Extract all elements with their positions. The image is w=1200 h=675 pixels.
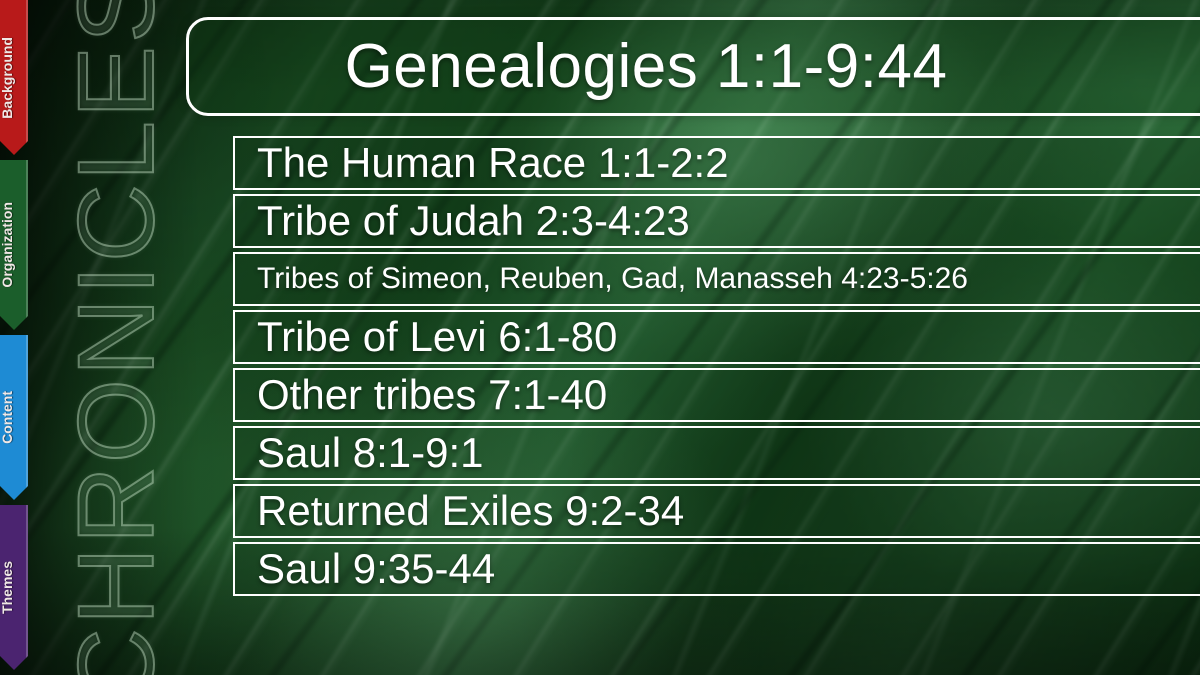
sidebar-tab-label: Organization bbox=[0, 202, 15, 288]
outline-row[interactable]: The Human Race 1:1-2:2 bbox=[233, 136, 1200, 190]
outline-row-label: Saul 9:35-44 bbox=[257, 545, 495, 593]
slide-title-box: Genealogies 1:1-9:44 bbox=[186, 17, 1200, 116]
outline-row[interactable]: Other tribes 7:1-40 bbox=[233, 368, 1200, 422]
sidebar-tab-label: Background bbox=[0, 37, 15, 119]
outline-row-label: Tribes of Simeon, Reuben, Gad, Manasseh … bbox=[257, 262, 968, 296]
outline-row-label: Other tribes 7:1-40 bbox=[257, 371, 607, 419]
outline-row[interactable]: Tribes of Simeon, Reuben, Gad, Manasseh … bbox=[233, 252, 1200, 306]
outline-row-label: Tribe of Levi 6:1-80 bbox=[257, 313, 617, 361]
sidebar-tab-organization[interactable]: Organization bbox=[0, 160, 28, 330]
outline-row-label: Returned Exiles 9:2-34 bbox=[257, 487, 684, 535]
outline-row[interactable]: Tribe of Judah 2:3-4:23 bbox=[233, 194, 1200, 248]
outline-row-label: Tribe of Judah 2:3-4:23 bbox=[257, 197, 690, 245]
sidebar-tab-background[interactable]: Background bbox=[0, 0, 28, 155]
section-tab-strip: BackgroundOrganizationContentThemes bbox=[0, 0, 28, 675]
sidebar-tab-label: Content bbox=[0, 391, 15, 444]
outline-row[interactable]: Saul 8:1-9:1 bbox=[233, 426, 1200, 480]
outline-row[interactable]: Returned Exiles 9:2-34 bbox=[233, 484, 1200, 538]
sidebar-tab-label: Themes bbox=[0, 561, 15, 614]
outline-row[interactable]: Saul 9:35-44 bbox=[233, 542, 1200, 596]
outline-row-label: Saul 8:1-9:1 bbox=[257, 429, 484, 477]
sidebar-tab-themes[interactable]: Themes bbox=[0, 505, 28, 670]
outline-list: The Human Race 1:1-2:2Tribe of Judah 2:3… bbox=[233, 136, 1200, 600]
presentation-slide: CHRONICLES BackgroundOrganizationContent… bbox=[0, 0, 1200, 675]
page-title: Genealogies 1:1-9:44 bbox=[345, 31, 1088, 102]
sidebar-tab-content[interactable]: Content bbox=[0, 335, 28, 500]
outline-row-label: The Human Race 1:1-2:2 bbox=[257, 139, 729, 187]
outline-row[interactable]: Tribe of Levi 6:1-80 bbox=[233, 310, 1200, 364]
